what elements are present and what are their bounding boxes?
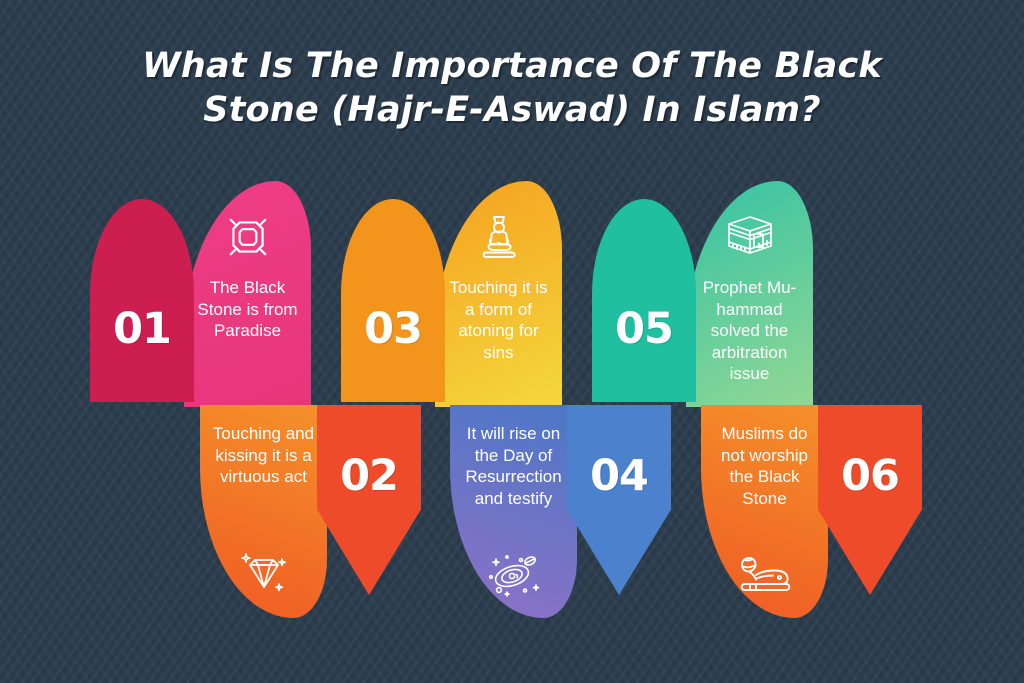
card-04-number: 04 bbox=[590, 451, 648, 501]
card-03-text: Touching it is a form of atoning for sin… bbox=[435, 277, 562, 363]
card-03[interactable]: Touching it is a form of atoning for sin… bbox=[341, 199, 572, 402]
card-05-number-panel: 05 bbox=[592, 199, 696, 402]
card-01-number: 01 bbox=[113, 304, 171, 354]
card-02-text: Touching and kissing it is a virtuous ac… bbox=[200, 423, 327, 488]
card-05-text: Prophet Mu-hammad solved the arbitration… bbox=[686, 277, 813, 385]
card-01[interactable]: The Black Stone is from Paradise 01 bbox=[90, 199, 321, 402]
page-title-line-2: Stone (Hajr-E-Aswad) In Islam? bbox=[0, 88, 1024, 132]
card-04-text: It will rise on the Day of Resurrection … bbox=[450, 423, 577, 509]
gemstone-icon bbox=[223, 201, 273, 273]
card-05-text-panel: Prophet Mu-hammad solved the arbitration… bbox=[686, 181, 813, 407]
prostrating-person-icon bbox=[734, 542, 796, 604]
card-04-text-panel: It will rise on the Day of Resurrection … bbox=[450, 405, 577, 618]
card-02-text-panel: Touching and kissing it is a virtuous ac… bbox=[200, 405, 327, 618]
card-01-text: The Black Stone is from Paradise bbox=[184, 277, 311, 342]
card-01-text-panel: The Black Stone is from Paradise bbox=[184, 181, 311, 407]
card-05[interactable]: Prophet Mu-hammad solved the arbitration… bbox=[592, 199, 823, 402]
card-04-number-panel: 04 bbox=[567, 405, 671, 595]
card-02-number: 02 bbox=[340, 451, 398, 501]
card-04[interactable]: It will rise on the Day of Resurrection … bbox=[450, 405, 671, 618]
card-03-number: 03 bbox=[364, 304, 422, 354]
card-05-number: 05 bbox=[615, 304, 673, 354]
card-02-number-panel: 02 bbox=[317, 405, 421, 595]
card-02[interactable]: Touching and kissing it is a virtuous ac… bbox=[200, 405, 421, 618]
galaxy-icon bbox=[485, 542, 543, 604]
kaaba-icon bbox=[721, 201, 779, 273]
card-06-number: 06 bbox=[841, 451, 899, 501]
card-03-text-panel: Touching it is a form of atoning for sin… bbox=[435, 181, 562, 407]
card-06-text-panel: Muslims do not worship the Black Stone bbox=[701, 405, 828, 618]
page-title: What Is The Importance Of The Black Ston… bbox=[0, 44, 1024, 132]
card-06-number-panel: 06 bbox=[818, 405, 922, 595]
card-06[interactable]: Muslims do not worship the Black Stone bbox=[701, 405, 922, 618]
card-03-number-panel: 03 bbox=[341, 199, 445, 402]
page-title-line-1: What Is The Importance Of The Black bbox=[0, 44, 1024, 88]
diamond-sparkle-icon bbox=[237, 542, 291, 604]
card-01-number-panel: 01 bbox=[90, 199, 194, 402]
praying-person-icon bbox=[476, 201, 522, 273]
card-06-text: Muslims do not worship the Black Stone bbox=[701, 423, 828, 509]
